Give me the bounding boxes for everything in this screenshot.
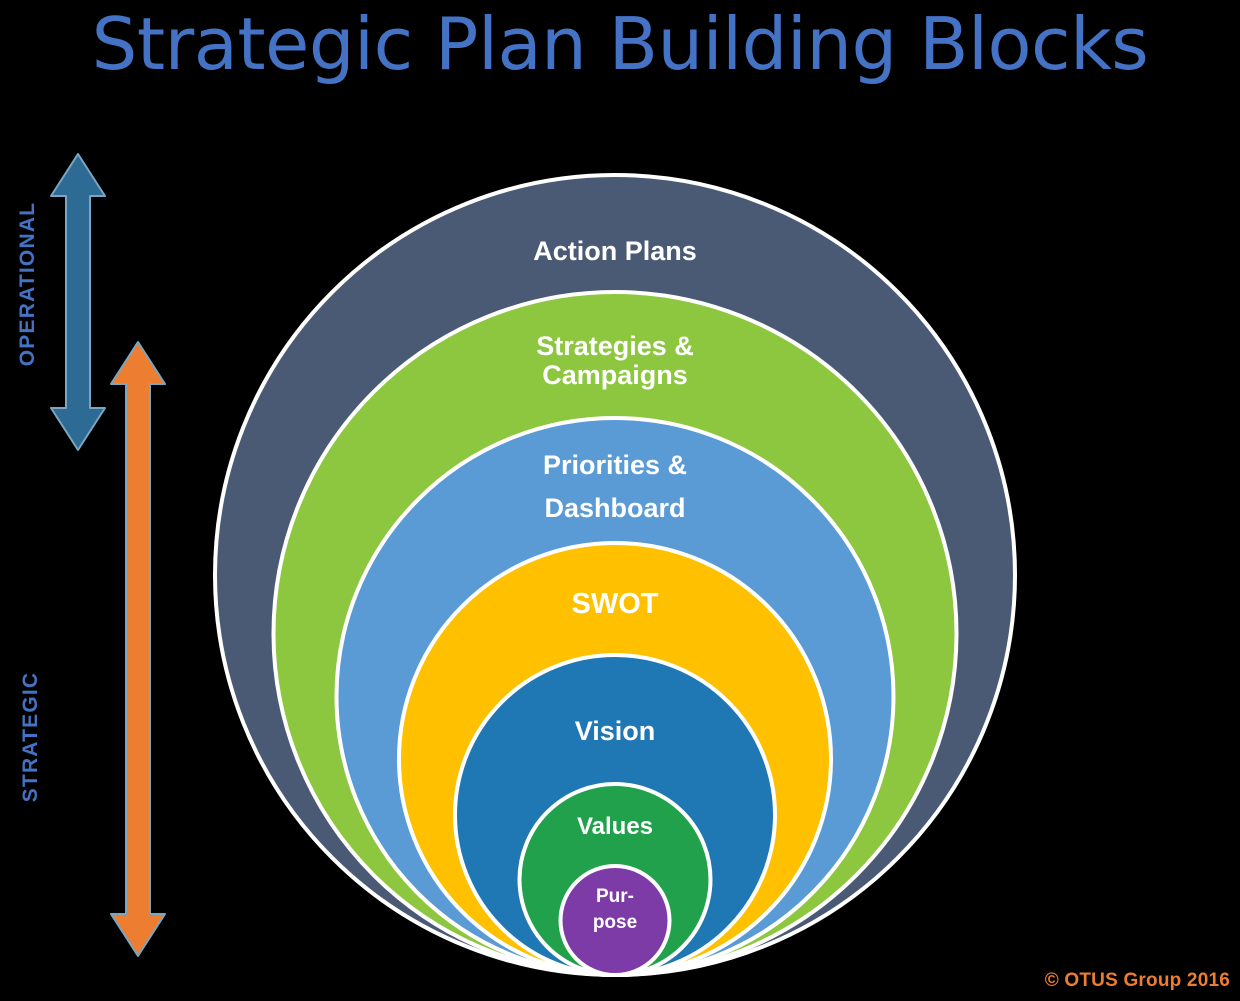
- strategic-plan-building-blocks-diagram: Action PlansStrategies & CampaignsPriori…: [0, 0, 1240, 996]
- copyright-notice: © OTUS Group 2016: [1045, 970, 1230, 992]
- ring-circle-6[interactable]: [561, 866, 670, 975]
- concentric-circles-graphic: [0, 0, 1240, 996]
